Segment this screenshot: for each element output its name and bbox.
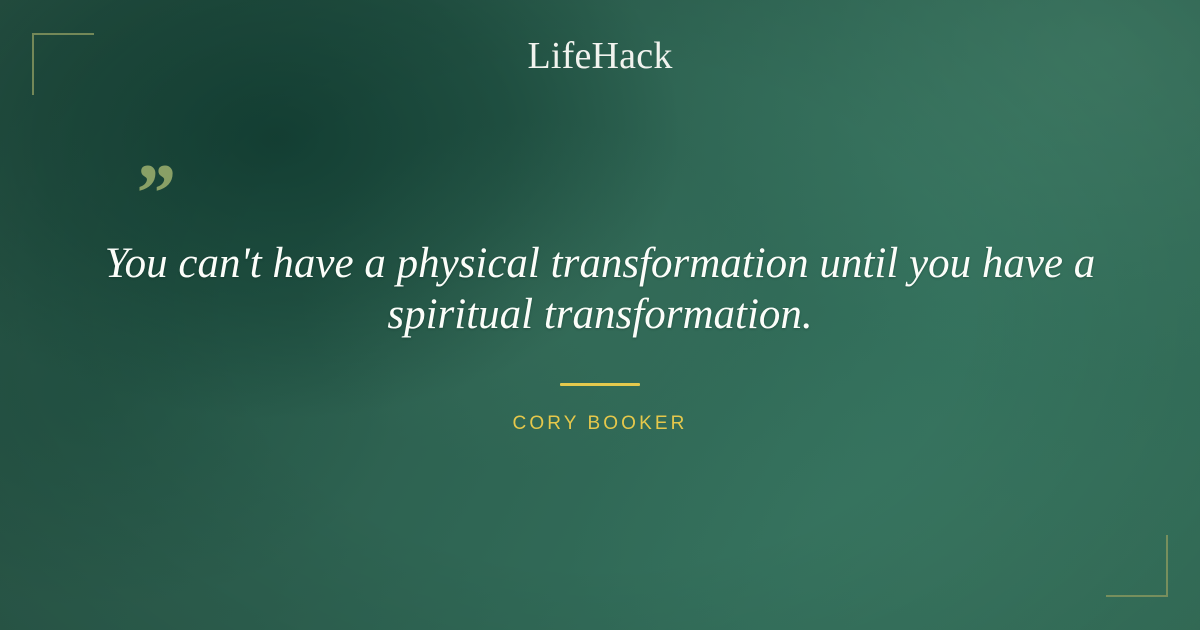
quote-card: LifeHack ” You can't have a physical tra…: [0, 0, 1200, 630]
quote-block: You can't have a physical transformation…: [100, 238, 1100, 340]
corner-bracket-bottom-right-icon: [1106, 535, 1168, 597]
quote-text: You can't have a physical transformation…: [100, 238, 1100, 340]
brand-logo: LifeHack: [0, 37, 1200, 75]
quotation-mark-icon: ”: [132, 152, 174, 236]
quote-author: CORY BOOKER: [0, 414, 1200, 433]
divider-rule: [560, 383, 640, 386]
